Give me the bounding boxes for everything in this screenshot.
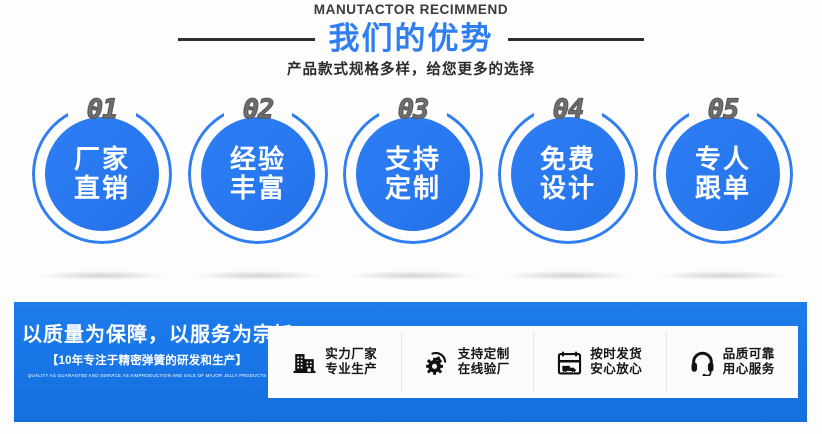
bottom-banner: 以质量为保障，以服务为宗旨 【10年专注于精密弹簧的研发和生产】 QUALITY… [14, 302, 807, 422]
banner-slogan: 以质量为保障，以服务为宗旨 [22, 322, 272, 348]
advantage-circle-list: 厂家 直销 01 经验 丰富 02 支持 [0, 86, 822, 276]
circle-shadow [194, 271, 322, 280]
feature-label-line2: 安心放心 [590, 362, 642, 376]
circle-number: 05 [645, 94, 801, 125]
feature-item-on-time-delivery[interactable]: 按时发货 安心放心 [533, 326, 666, 398]
feature-label-line2: 在线验厂 [458, 362, 510, 376]
feature-label-line2: 用心服务 [723, 362, 775, 376]
gear-arrow-icon [424, 349, 451, 376]
circle-label-line1: 厂家 [74, 145, 130, 174]
page-title: 我们的优势 [0, 22, 822, 56]
feature-item-reliable-quality[interactable]: 品质可靠 用心服务 [666, 326, 799, 398]
circle-inner: 支持 定制 [356, 117, 470, 231]
circle-label: 厂家 直销 [74, 145, 130, 203]
circle-inner: 经验 丰富 [201, 117, 315, 231]
circle-inner: 厂家 直销 [45, 117, 159, 231]
feature-label: 品质可靠 用心服务 [723, 347, 775, 377]
advantage-circle-03: 支持 定制 03 [335, 86, 491, 276]
advantage-circle-05: 专人 跟单 05 [645, 86, 801, 276]
circle-label-line2: 直销 [74, 174, 130, 203]
circle-label: 支持 定制 [385, 145, 441, 203]
circle-shadow [38, 271, 166, 280]
feature-label: 按时发货 安心放心 [590, 347, 642, 377]
page-title-text: 我们的优势 [315, 21, 508, 56]
circle-shadow [659, 271, 787, 280]
circle-label: 免费 设计 [540, 145, 596, 203]
banner-slogan-block: 以质量为保障，以服务为宗旨 【10年专注于精密弹簧的研发和生产】 QUALITY… [22, 322, 272, 378]
feature-label-line1: 品质可靠 [723, 347, 775, 361]
feature-label-line1: 按时发货 [590, 347, 642, 361]
calendar-truck-icon [556, 349, 583, 376]
banner-english-small: QUALITY AS GUARANTEE AND SERVICE AS AIMP… [22, 373, 272, 378]
circle-number: 01 [24, 94, 180, 125]
circle-label-line2: 跟单 [695, 174, 751, 203]
circle-number: 04 [490, 94, 646, 125]
advantage-circle-04: 免费 设计 04 [490, 86, 646, 276]
circle-number: 03 [335, 94, 491, 125]
advantage-circle-02: 经验 丰富 02 [180, 86, 336, 276]
promo-banner-page: MANUTACTOR RECIMMEND 我们的优势 产品款式规格多样，给您更多… [0, 0, 822, 434]
circle-label: 经验 丰富 [230, 145, 286, 203]
circle-label-line1: 专人 [695, 145, 751, 174]
feature-label: 支持定制 在线验厂 [458, 347, 510, 377]
feature-label-line2: 专业生产 [325, 362, 377, 376]
headset-icon [689, 349, 716, 376]
header-subtitle: 产品款式规格多样，给您更多的选择 [0, 58, 822, 79]
circle-shadow [504, 271, 632, 280]
banner-feature-panel: 实力厂家 专业生产 [268, 326, 798, 398]
circle-inner: 专人 跟单 [666, 117, 780, 231]
banner-bracket-text: 【10年专注于精密弹簧的研发和生产】 [22, 352, 272, 368]
advantage-circle-01: 厂家 直销 01 [24, 86, 180, 276]
circle-label-line2: 定制 [385, 174, 441, 203]
feature-label-line1: 实力厂家 [325, 347, 377, 361]
header-english-title: MANUTACTOR RECIMMEND [0, 2, 822, 17]
circle-inner: 免费 设计 [511, 117, 625, 231]
circle-number: 02 [180, 94, 336, 125]
building-icon [291, 349, 318, 376]
circle-label-line1: 支持 [385, 145, 441, 174]
circle-label-line2: 设计 [540, 174, 596, 203]
feature-label: 实力厂家 专业生产 [325, 347, 377, 377]
feature-item-quality-factory[interactable]: 实力厂家 专业生产 [268, 326, 401, 398]
feature-item-custom-support[interactable]: 支持定制 在线验厂 [401, 326, 534, 398]
circle-label-line1: 经验 [230, 145, 286, 174]
circle-shadow [349, 271, 477, 280]
circle-label-line1: 免费 [540, 145, 596, 174]
circle-label-line2: 丰富 [230, 174, 286, 203]
feature-label-line1: 支持定制 [458, 347, 510, 361]
circle-label: 专人 跟单 [695, 145, 751, 203]
